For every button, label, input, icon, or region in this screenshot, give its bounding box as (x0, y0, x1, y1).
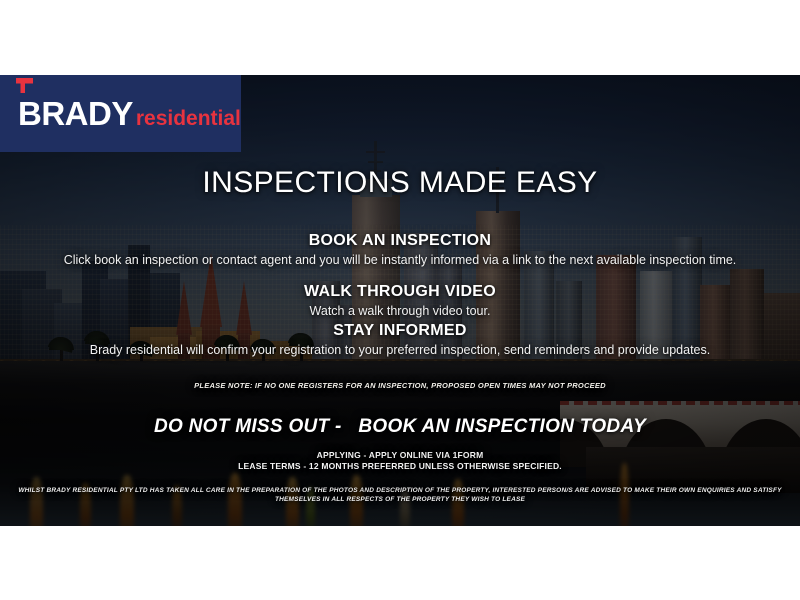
lease-terms-line: LEASE TERMS - 12 MONTHS PREFERRED UNLESS… (0, 461, 800, 472)
section-walk-through-video: WALK THROUGH VIDEO Watch a walk through … (0, 283, 800, 319)
red-flag-icon (16, 78, 33, 93)
promo-banner: BRADY residential INSPECTIONS MADE EASY … (0, 75, 800, 526)
section-book-an-inspection: BOOK AN INSPECTION Click book an inspect… (0, 232, 800, 268)
section-body: Click book an inspection or contact agen… (0, 253, 800, 268)
logo-lockup: BRADY residential (18, 97, 241, 130)
brady-residential-logo[interactable]: BRADY residential (0, 75, 241, 152)
applying-line: APPLYING - APPLY ONLINE VIA 1FORM (0, 450, 800, 461)
please-note-text: PLEASE NOTE: IF NO ONE REGISTERS FOR AN … (0, 381, 800, 390)
page-root: BRADY residential INSPECTIONS MADE EASY … (0, 0, 800, 600)
section-body: Brady residential will confirm your regi… (0, 343, 800, 358)
section-body: Watch a walk through video tour. (0, 304, 800, 319)
section-heading: WALK THROUGH VIDEO (0, 283, 800, 301)
section-heading: STAY INFORMED (0, 322, 800, 340)
section-stay-informed: STAY INFORMED Brady residential will con… (0, 322, 800, 358)
logo-brand-secondary: residential (136, 108, 241, 129)
section-heading: BOOK AN INSPECTION (0, 232, 800, 250)
legal-disclaimer: WHILST BRADY RESIDENTIAL PTY LTD HAS TAK… (0, 486, 800, 504)
logo-brand-primary: BRADY (18, 97, 133, 130)
terms-block: APPLYING - APPLY ONLINE VIA 1FORM LEASE … (0, 450, 800, 472)
call-to-action-text: DO NOT MISS OUT - BOOK AN INSPECTION TOD… (0, 416, 800, 438)
page-title: INSPECTIONS MADE EASY (0, 166, 800, 200)
